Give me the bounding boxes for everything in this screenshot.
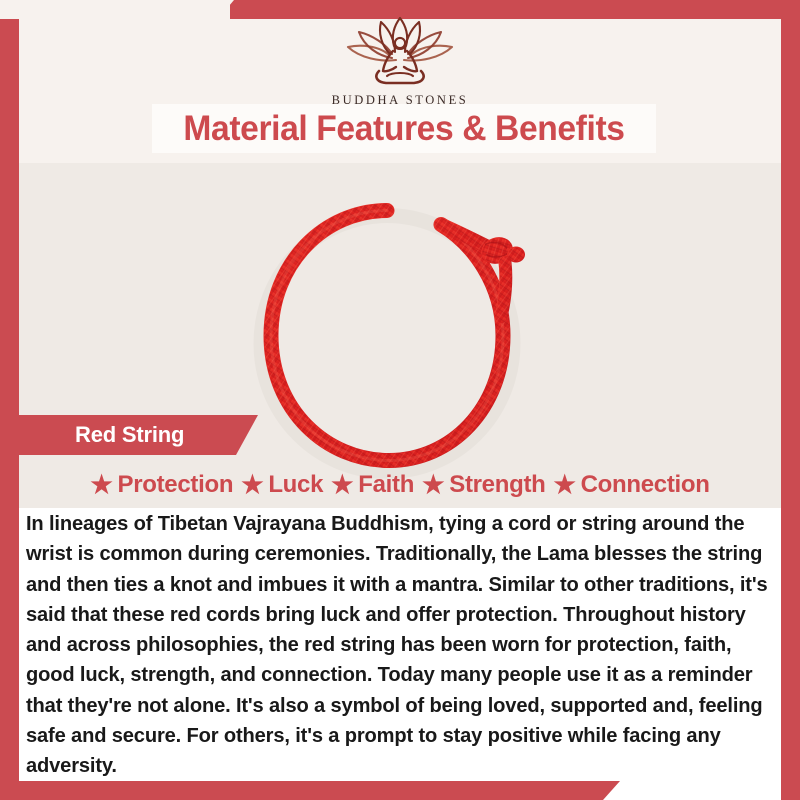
star-icon: ★ <box>554 473 576 498</box>
frame-border-bottom <box>0 781 620 800</box>
frame-border-top <box>218 0 800 19</box>
frame-border-right <box>781 0 800 800</box>
benefit-item-strength: ★ Strength <box>418 471 549 499</box>
page-title: Material Features & Benefits <box>162 104 646 153</box>
star-icon: ★ <box>331 473 353 498</box>
benefits-list: ★ Protection ★ Luck ★ Faith ★ Strength ★… <box>19 466 781 504</box>
frame-notch-top-left <box>0 0 230 19</box>
red-string-bracelet-icon <box>235 188 565 483</box>
benefit-item-connection: ★ Connection <box>550 471 714 499</box>
description-text: In lineages of Tibetan Vajrayana Buddhis… <box>26 509 774 782</box>
star-icon: ★ <box>241 473 263 498</box>
benefit-item-luck: ★ Luck <box>237 471 327 499</box>
benefit-item-protection: ★ Protection <box>86 471 237 499</box>
benefit-item-faith: ★ Faith <box>327 471 418 499</box>
material-label: Red String <box>19 415 258 455</box>
benefit-label: Faith <box>358 471 414 499</box>
benefit-label: Protection <box>118 471 234 499</box>
benefit-label: Connection <box>581 471 710 499</box>
material-features-infographic: BUDDHA STONES Material Features & Benefi… <box>0 0 800 800</box>
star-icon: ★ <box>90 473 112 498</box>
benefit-label: Strength <box>449 471 545 499</box>
frame-border-left <box>0 0 19 800</box>
product-image <box>19 163 781 508</box>
benefit-label: Luck <box>268 471 323 499</box>
star-icon: ★ <box>422 473 444 498</box>
